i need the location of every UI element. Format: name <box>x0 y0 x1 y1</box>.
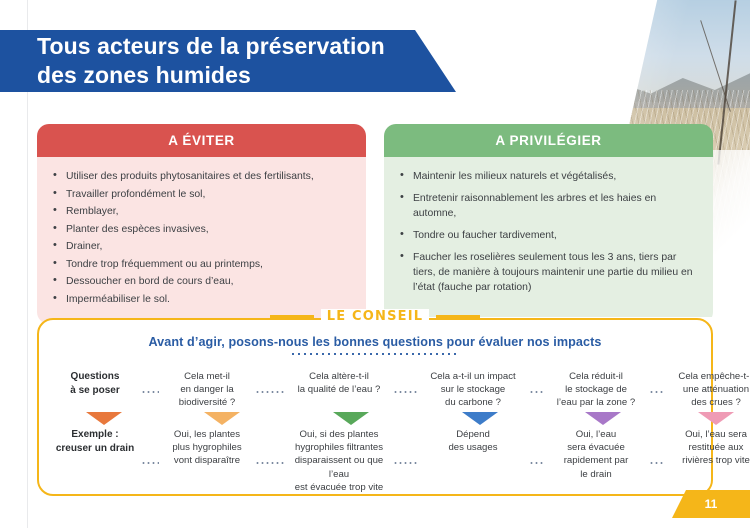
card-a-eviter: A ÉVITER Utiliser des produits phytosani… <box>37 124 366 324</box>
question-cell-1: Cela met-il en danger la biodiversité ? <box>159 370 255 410</box>
card-a-eviter-body: Utiliser des produits phytosanitaires et… <box>37 157 366 324</box>
answers-row: Exemple : creuser un drainOui, les plant… <box>49 428 703 494</box>
down-arrow-icon <box>585 412 621 425</box>
list-item: Travailler profondément le sol, <box>53 187 352 202</box>
answer-separator-dots <box>141 461 159 465</box>
list-item: Entretenir raisonnablement les arbres et… <box>400 191 699 221</box>
page-title: Tous acteurs de la préservation des zone… <box>0 32 385 91</box>
list-item: Faucher les roselières seulement tous le… <box>400 250 699 295</box>
answer-cell-5: Oui, l’eau sera restituée aux rivières t… <box>663 428 750 468</box>
list-item: Dessoucher en bord de cours d’eau, <box>53 274 352 289</box>
question-cell-2: Cela altère-t-il la qualité de l’eau ? <box>285 370 393 396</box>
answers-lead-label: Exemple : creuser un drain <box>49 428 141 456</box>
answer-cell-1: Oui, les plantes plus hygrophiles vont d… <box>159 428 255 468</box>
questions-row: Questions à se poserCela met-il en dange… <box>49 370 703 410</box>
question-separator-dots <box>649 390 663 394</box>
conseil-tag-bar-right <box>436 315 480 319</box>
conseil-panel: LE CONSEIL Avant d’agir, posons-nous les… <box>37 318 713 496</box>
question-separator-dots <box>255 390 285 394</box>
down-arrow-icon <box>333 412 369 425</box>
page-root: Tous acteurs de la préservation des zone… <box>0 0 750 528</box>
card-a-privilegier-heading: A PRIVILÉGIER <box>384 124 713 157</box>
arrows-row <box>49 412 703 425</box>
conseil-tag-bar-left <box>270 315 314 319</box>
answer-cell-4: Oui, l’eau sera évacuée rapidement par l… <box>543 428 649 481</box>
answer-separator-dots <box>529 461 543 465</box>
header-banner: Tous acteurs de la préservation des zone… <box>0 30 456 92</box>
arrow-slot-4 <box>417 412 543 425</box>
conseil-tag-label: LE CONSEIL <box>321 309 430 324</box>
list-item: Planter des espèces invasives, <box>53 222 352 237</box>
answer-separator-dots <box>255 461 285 465</box>
down-arrow-icon <box>86 412 122 425</box>
card-a-privilegier: A PRIVILÉGIER Maintenir les milieux natu… <box>384 124 713 324</box>
question-cell-4: Cela réduit-il le stockage de l’eau par … <box>543 370 649 410</box>
list-item: Remblayer, <box>53 204 352 219</box>
questions-lead-label: Questions à se poser <box>49 370 141 398</box>
advice-cards: A ÉVITER Utiliser des produits phytosani… <box>37 124 713 324</box>
arrow-slot-2 <box>159 412 285 425</box>
answer-cell-2: Oui, si des plantes hygrophiles filtrant… <box>285 428 393 494</box>
list-item: Tondre trop fréquemment ou au printemps, <box>53 257 352 272</box>
arrow-slot-5 <box>543 412 663 425</box>
answer-cell-3: Dépend des usages <box>417 428 529 454</box>
arrow-slot-6 <box>663 412 750 425</box>
question-separator-dots <box>141 390 159 394</box>
list-item: Tondre ou faucher tardivement, <box>400 228 699 243</box>
answer-separator-dots <box>649 461 663 465</box>
card-a-eviter-heading: A ÉVITER <box>37 124 366 157</box>
list-item: Imperméabiliser le sol. <box>53 292 352 307</box>
question-cell-3: Cela a-t-il un impact sur le stockage du… <box>417 370 529 410</box>
arrow-slot-3 <box>285 412 417 425</box>
card-a-eviter-list: Utiliser des produits phytosanitaires et… <box>53 169 352 307</box>
list-item: Utiliser des produits phytosanitaires et… <box>53 169 352 184</box>
list-item: Drainer, <box>53 239 352 254</box>
conseil-title-dots <box>290 352 460 356</box>
answer-separator-dots <box>393 461 417 465</box>
conseil-title: Avant d’agir, posons-nous les bonnes que… <box>39 335 711 349</box>
card-a-privilegier-list: Maintenir les milieux naturels et végéta… <box>400 169 699 296</box>
down-arrow-icon <box>698 412 734 425</box>
arrow-slot-1 <box>49 412 159 425</box>
list-item: Maintenir les milieux naturels et végéta… <box>400 169 699 184</box>
card-a-privilegier-body: Maintenir les milieux naturels et végéta… <box>384 157 713 317</box>
question-cell-5: Cela empêche-t-il une atténuation des cr… <box>663 370 750 410</box>
conseil-tag: LE CONSEIL <box>39 309 711 324</box>
down-arrow-icon <box>204 412 240 425</box>
down-arrow-icon <box>462 412 498 425</box>
question-separator-dots <box>529 390 543 394</box>
question-separator-dots <box>393 390 417 394</box>
